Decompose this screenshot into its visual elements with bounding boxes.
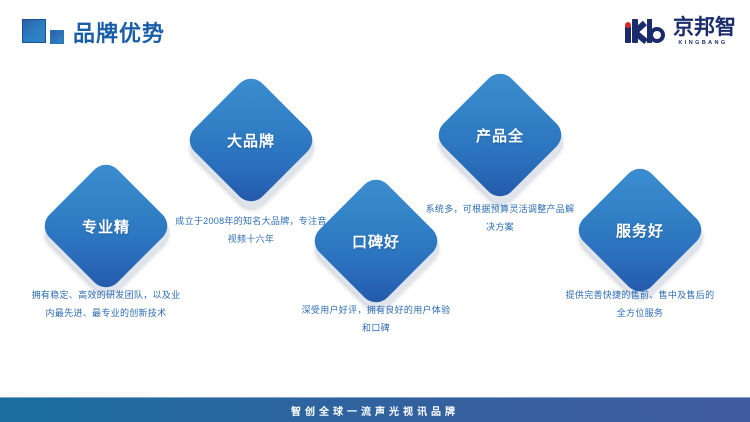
logo-wordmark-pinyin: KINGBANG [678,40,727,46]
feature-diamond-5[interactable]: 服务好 [592,182,688,278]
logo-letter-b-counter-icon [653,31,661,39]
diamond-face-1 [38,158,174,294]
diamond-face-2 [183,72,319,208]
feature-diamond-1[interactable]: 专业精 [58,178,154,274]
feature-desc-1: 拥有稳定、高效的研发团队，以及业内最先进、最专业的创新技术 [30,286,182,322]
feature-desc-3: 深受用户好评，拥有良好的用户体验和口碑 [300,301,452,337]
feature-diamond-3[interactable]: 口碑好 [328,193,424,289]
feature-desc-2: 成立于2008年的知名大品牌，专注音视频十六年 [175,212,327,248]
logo-wordmark: 京邦智 KINGBANG [670,17,736,46]
logo-mark-icon [625,19,665,43]
logo-letter-k-icon [632,19,647,43]
logo-wordmark-cn: 京邦智 [673,17,736,38]
brand-logo: 京邦智 KINGBANG [625,14,736,48]
page-title: 品牌优势 [73,16,165,48]
square-marker-large-icon [22,19,46,43]
feature-desc-4: 系统多，可根据预算灵活调整产品解决方案 [424,200,576,236]
logo-letter-i-icon [625,26,631,43]
logo-letter-b-icon [647,19,665,43]
diamond-face-3 [308,173,444,309]
diamond-face-4 [432,67,568,203]
slide-canvas: 品牌优势 京邦智 KINGBANG 专业精 拥有稳定、高效的研发团队，以 [0,0,750,422]
square-marker-small-icon [50,30,64,44]
slide-footer: 智创全球一流声光视讯品牌 [0,397,750,422]
logo-dot-icon [625,22,631,28]
footer-slogan: 智创全球一流声光视讯品牌 [291,403,459,418]
feature-desc-5: 提供完善快捷的售前、售中及售后的全方位服务 [564,286,716,322]
feature-diamond-4[interactable]: 产品全 [452,87,548,183]
feature-diamond-2[interactable]: 大品牌 [203,92,299,188]
diamond-face-5 [572,162,708,298]
